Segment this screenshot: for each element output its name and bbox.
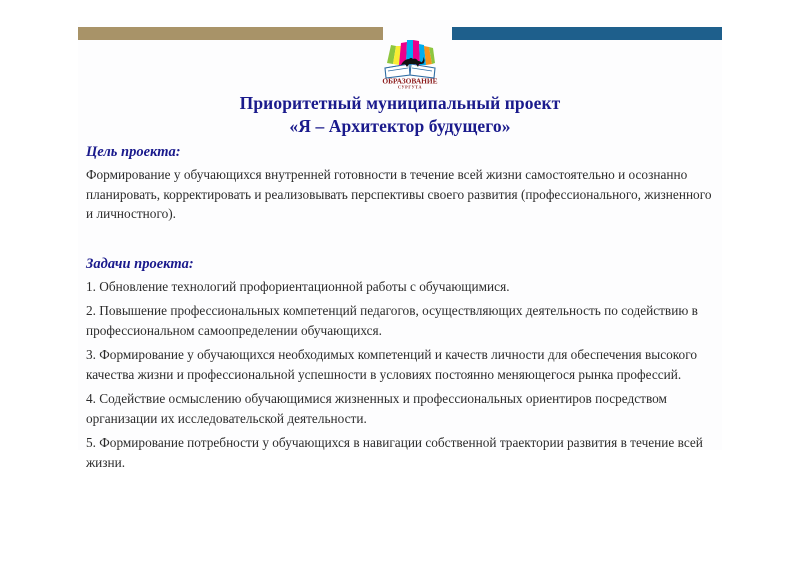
project-title: Приоритетный муниципальный проект «Я – А…: [78, 92, 722, 138]
section-spacer: [84, 228, 716, 254]
slide-content: Цель проекта: Формирование у обучающихся…: [84, 142, 716, 477]
task-item: 5. Формирование потребности у обучающихс…: [86, 433, 704, 472]
goal-text: Формирование у обучающихся внутренней го…: [86, 165, 716, 224]
task-item: 3. Формирование у обучающихся необходимы…: [86, 345, 704, 384]
logo-sub-text: СУРГУТА: [398, 85, 422, 90]
project-title-line-1: Приоритетный муниципальный проект: [78, 92, 722, 115]
goal-heading: Цель проекта:: [86, 142, 716, 162]
slide-canvas: ОБРАЗОВАНИЕ СУРГУТА Приоритетный муницип…: [78, 20, 722, 450]
project-title-line-2: «Я – Архитектор будущего»: [78, 115, 722, 138]
obrazovanie-surguta-logo: ОБРАЗОВАНИЕ СУРГУТА: [379, 28, 441, 90]
task-item: 4. Содействие осмыслению обучающимися жи…: [86, 389, 704, 428]
task-item: 1. Обновление технологий профориентацион…: [86, 277, 704, 297]
header-bar-left: [78, 27, 383, 40]
tasks-heading: Задачи проекта:: [86, 254, 716, 274]
task-item: 2. Повышение профессиональных компетенци…: [86, 301, 704, 340]
header-bar-right: [452, 27, 722, 40]
